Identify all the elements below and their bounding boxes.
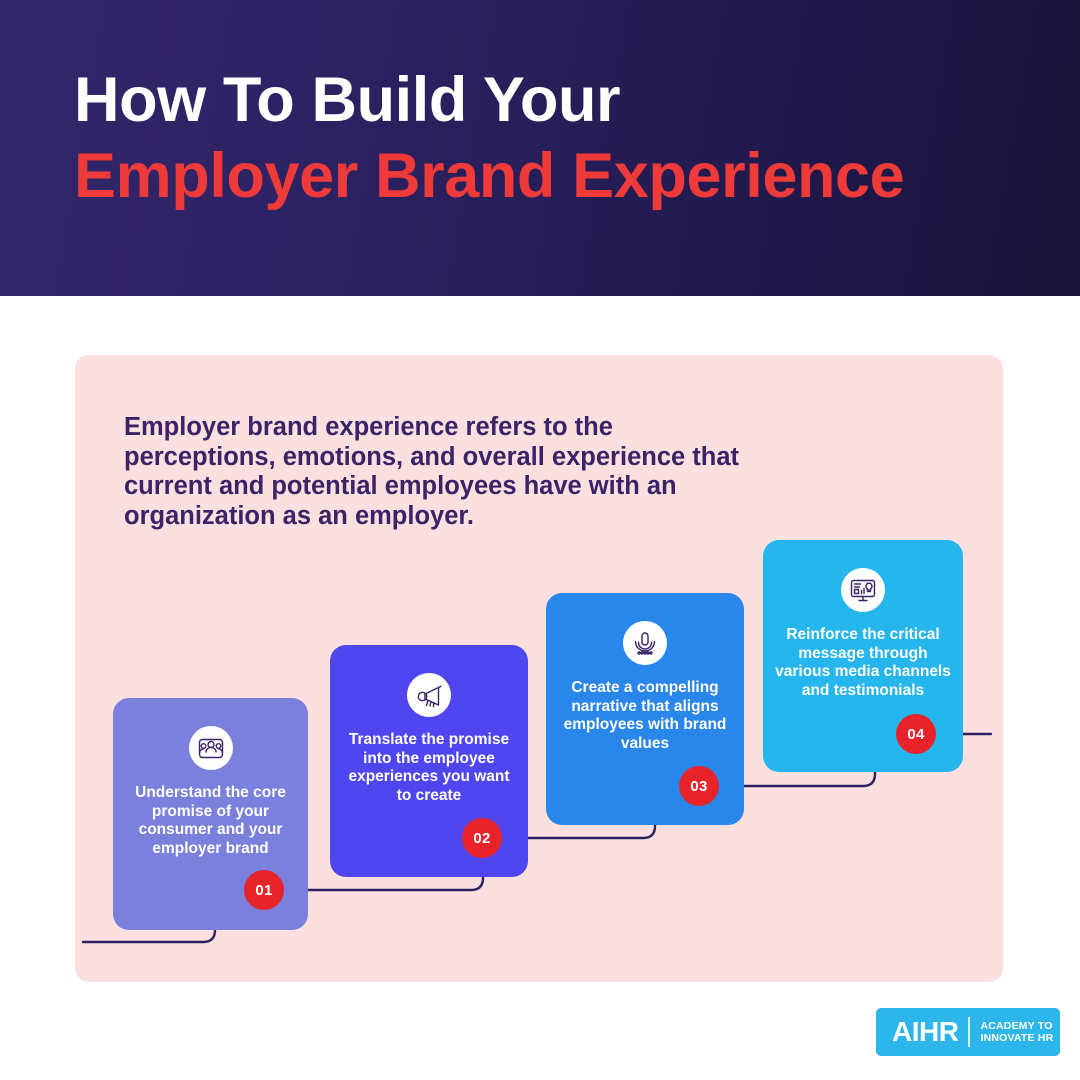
step-badge-4-number: 04 (907, 726, 924, 743)
step-badge-2-number: 02 (473, 830, 490, 847)
step-badge-1-number: 01 (255, 882, 272, 899)
step-card-4-text: Reinforce the critical message through v… (775, 626, 951, 700)
megaphone-icon (407, 673, 451, 717)
content-panel: Employer brand experience refers to the … (75, 355, 1003, 982)
aihr-logo[interactable]: AIHR ACADEMY TO INNOVATE HR (876, 1008, 1060, 1056)
people-group-icon (189, 726, 233, 770)
logo-tagline-line-2: INNOVATE HR (980, 1032, 1053, 1045)
title-line-1: How To Build Your (74, 62, 904, 138)
microphone-icon (623, 621, 667, 665)
step-card-2-text: Translate the promise into the employee … (344, 731, 514, 805)
step-badge-4: 04 (896, 714, 936, 754)
logo-tagline-line-1: ACADEMY TO (980, 1020, 1053, 1033)
step-card-1-text: Understand the core promise of your cons… (129, 784, 292, 858)
logo-tagline: ACADEMY TO INNOVATE HR (980, 1020, 1053, 1045)
header-band: How To Build Your Employer Brand Experie… (0, 0, 1080, 296)
step-badge-3-number: 03 (690, 778, 707, 795)
step-card-3-text: Create a compelling narrative that align… (560, 679, 730, 753)
page-title: How To Build Your Employer Brand Experie… (74, 62, 904, 214)
step-badge-2: 02 (462, 818, 502, 858)
title-line-2: Employer Brand Experience (74, 138, 904, 214)
logo-wordmark: AIHR (892, 1016, 958, 1048)
step-badge-1: 01 (244, 870, 284, 910)
step-badge-3: 03 (679, 766, 719, 806)
monitor-idea-icon (841, 568, 885, 612)
intro-paragraph: Employer brand experience refers to the … (124, 413, 744, 531)
logo-divider (968, 1017, 970, 1047)
infographic-canvas: How To Build Your Employer Brand Experie… (0, 0, 1080, 1080)
